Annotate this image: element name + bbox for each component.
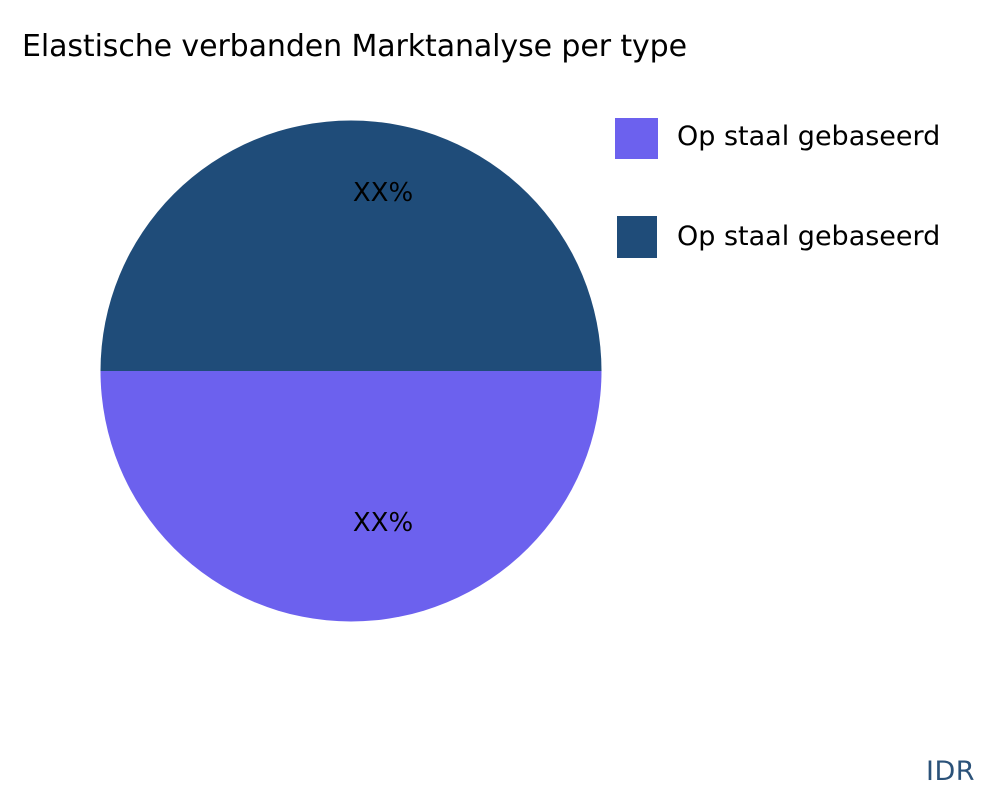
pie-chart-svg: [100, 120, 602, 622]
pie-chart-figure: Elastische verbanden Marktanalyse per ty…: [0, 0, 1000, 800]
chart-legend: Op staal gebaseerd Op staal gebaseerd: [615, 112, 995, 312]
legend-swatch-darkblue-icon: [617, 216, 657, 258]
pie-slice-darkblue[interactable]: [101, 121, 602, 372]
legend-item-purple[interactable]: Op staal gebaseerd: [615, 112, 995, 212]
pie-slice-purple[interactable]: [101, 371, 602, 622]
pie-slice-label-purple: XX%: [353, 510, 413, 536]
pie-slice-label-darkblue: XX%: [353, 180, 413, 206]
pie-chart-plot-area: [100, 120, 602, 622]
legend-label-purple: Op staal gebaseerd: [677, 123, 940, 150]
page-title: Elastische verbanden Marktanalyse per ty…: [22, 28, 687, 66]
legend-item-darkblue[interactable]: Op staal gebaseerd: [615, 212, 995, 312]
watermark-idr: IDR: [926, 758, 975, 785]
legend-swatch-purple-icon: [615, 118, 658, 159]
legend-label-darkblue: Op staal gebaseerd: [677, 223, 940, 250]
